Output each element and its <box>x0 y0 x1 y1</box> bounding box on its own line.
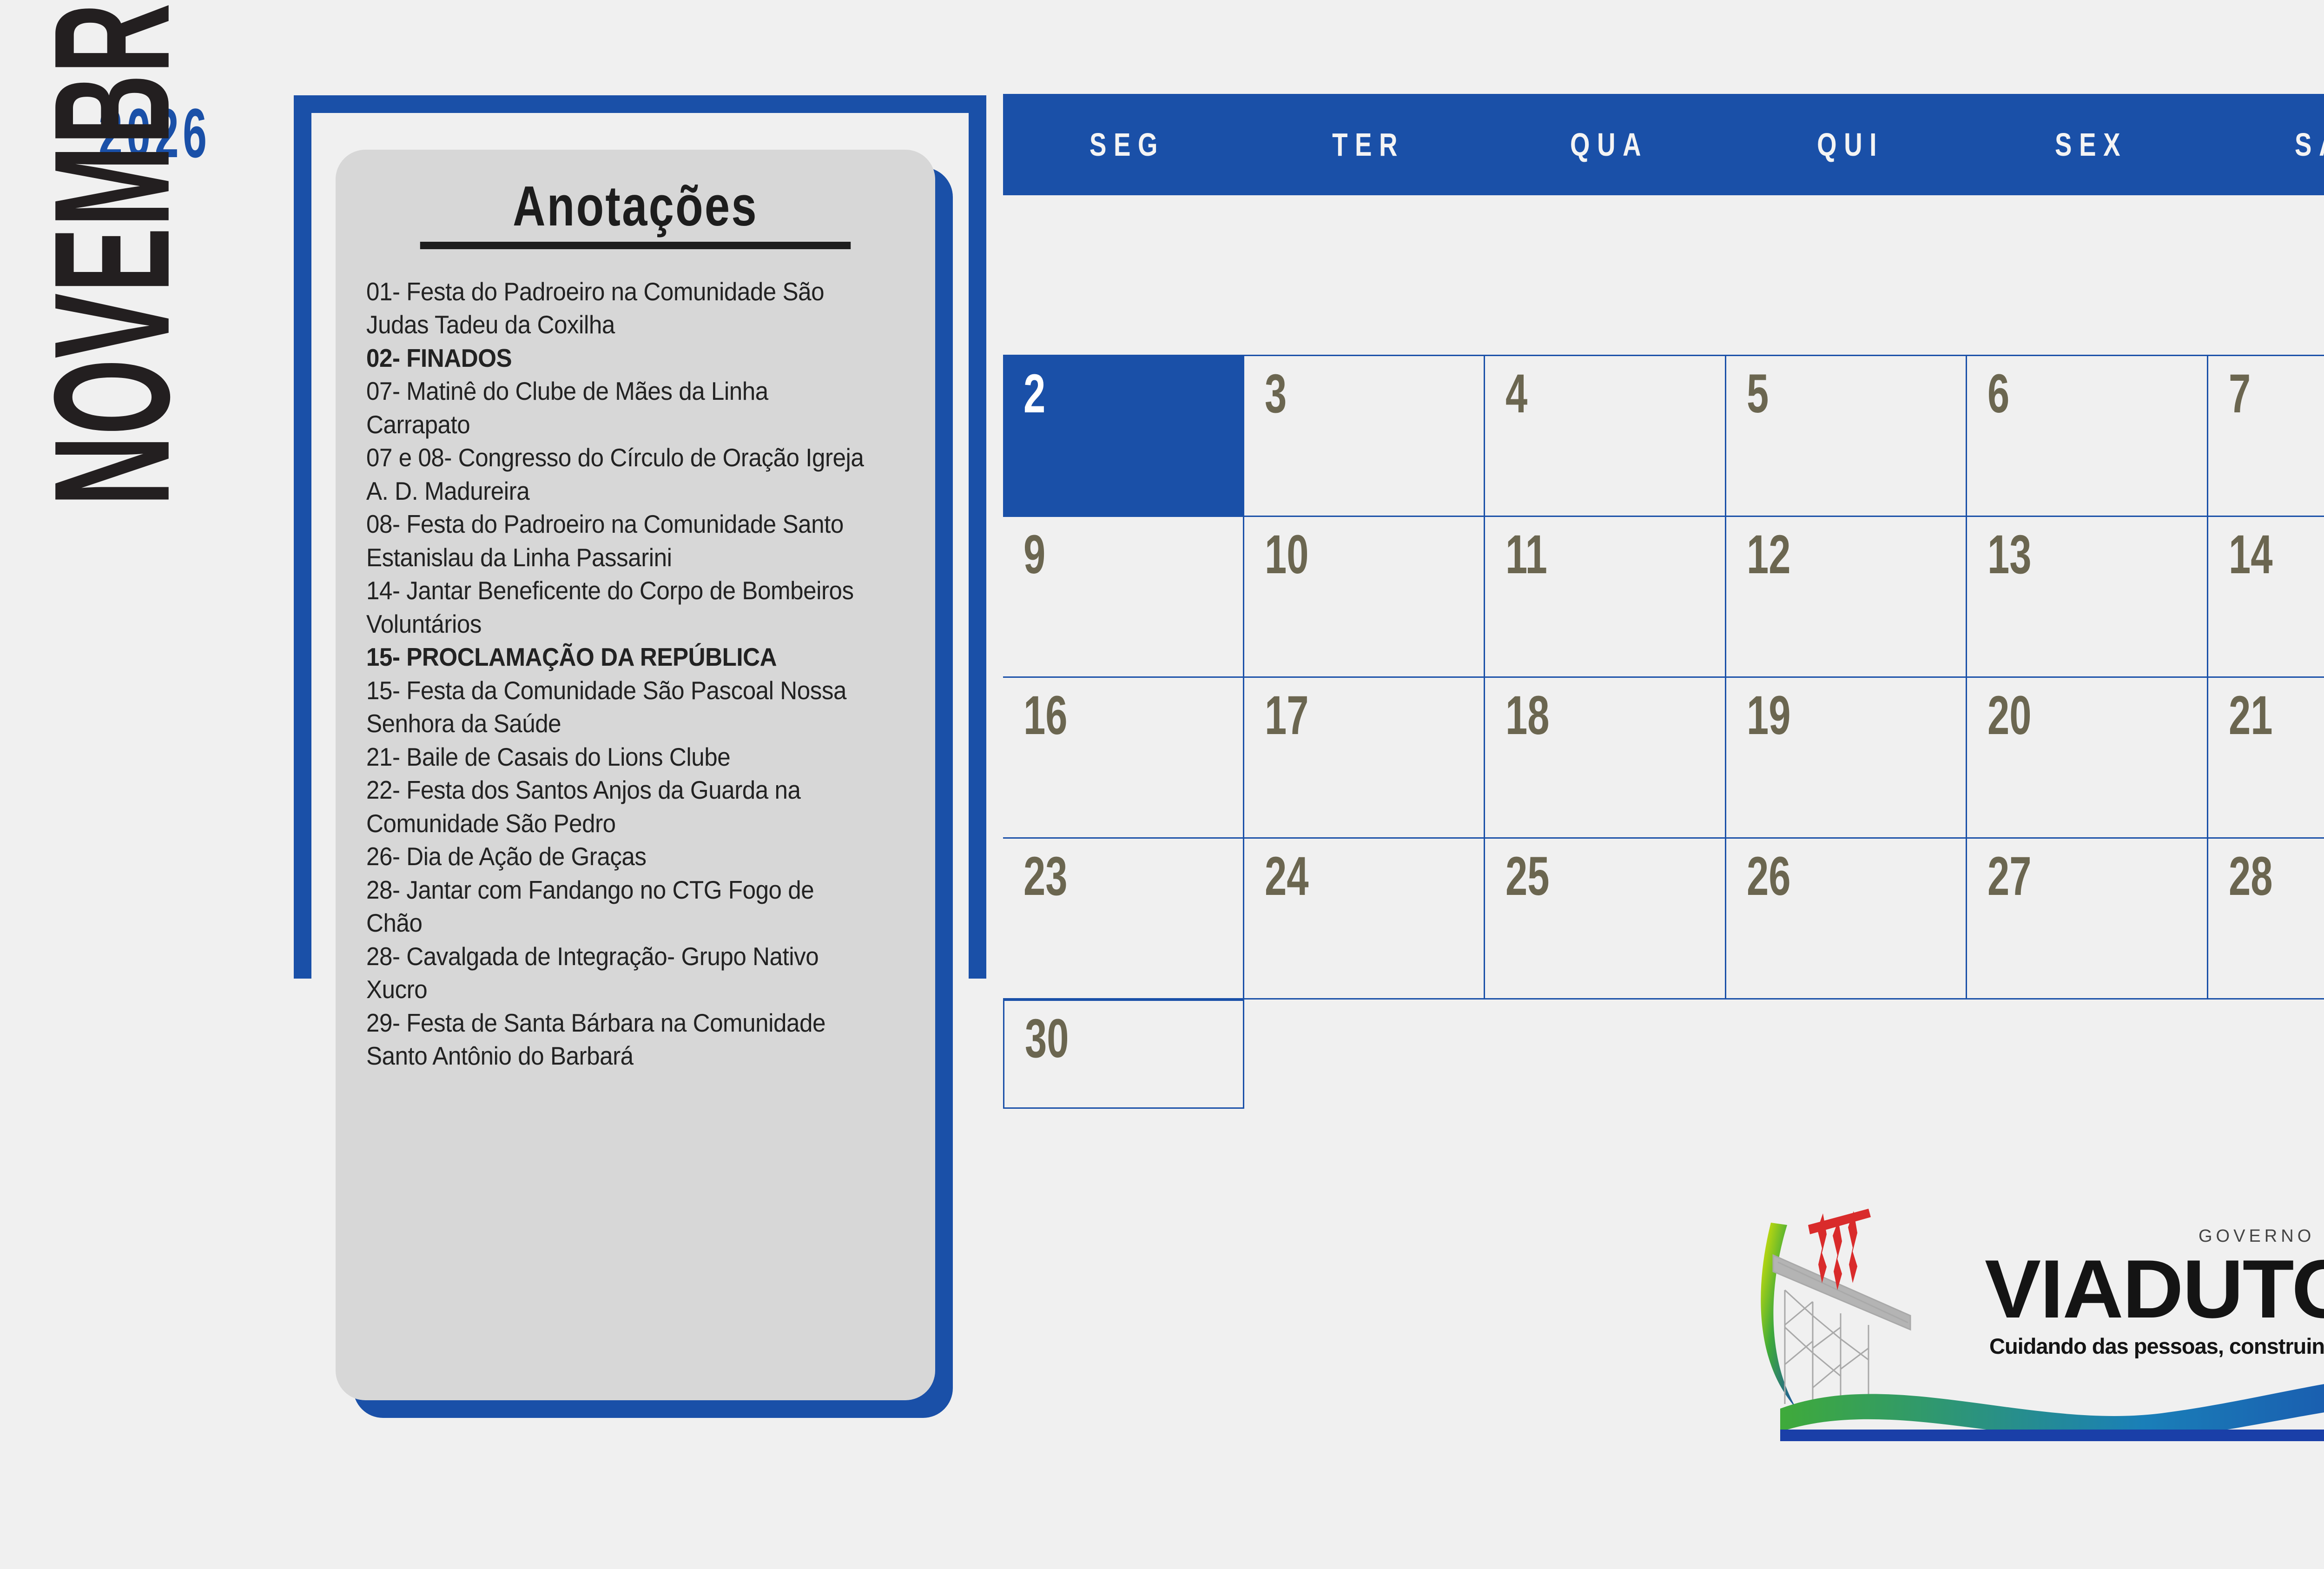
day-cell[interactable]: 25 <box>1485 839 1726 1000</box>
weekday-qui: QUI <box>1753 94 1941 195</box>
note-item: 02- FINADOS <box>366 342 867 375</box>
notes-list: 01- Festa do Padroeiro na Comunidade São… <box>366 275 905 1073</box>
note-item: 14- Jantar Beneficente do Corpo de Bombe… <box>366 574 867 641</box>
day-number: 18 <box>1505 688 1550 743</box>
notes-card: Anotações 01- Festa do Padroeiro na Comu… <box>336 150 935 1400</box>
day-cell[interactable]: 27 <box>1967 839 2208 1000</box>
weekday-sáb: SÁB <box>2235 94 2324 195</box>
month-name-text: NOVEMBRO <box>29 0 194 506</box>
note-item: 01- Festa do Padroeiro na Comunidade São… <box>366 275 867 342</box>
note-item: 07 e 08- Congresso do Círculo de Oração … <box>366 441 867 508</box>
day-cell[interactable]: 26 <box>1726 839 1967 1000</box>
day-cell[interactable]: 16 <box>1003 678 1244 839</box>
day-number: 19 <box>1747 688 1791 743</box>
month-name: NOVEMBRO <box>35 0 188 625</box>
day-cell[interactable]: 18 <box>1485 678 1726 839</box>
note-item: 15- Festa da Comunidade São Pascoal Noss… <box>366 674 867 741</box>
logo-wave-graphic <box>1752 1348 2324 1441</box>
day-cell[interactable]: 19 <box>1726 678 1967 839</box>
day-number: 20 <box>1987 688 2032 743</box>
day-number: 12 <box>1747 527 1791 582</box>
day-number: 6 <box>1987 366 2009 421</box>
day-cell[interactable]: 14 <box>2208 517 2324 678</box>
note-item: 28- Cavalgada de Integração- Grupo Nativ… <box>366 940 867 1006</box>
notes-frame-right-bar <box>969 95 986 979</box>
day-number: 25 <box>1505 849 1550 904</box>
day-number: 27 <box>1987 849 2032 904</box>
day-number: 28 <box>2229 849 2273 904</box>
day-cell[interactable]: 2 <box>1003 356 1244 517</box>
day-cell[interactable]: 13 <box>1967 517 2208 678</box>
weekday-sex: SEX <box>1994 94 2181 195</box>
note-item: 22- Festa dos Santos Anjos da Guarda na … <box>366 774 867 840</box>
day-number: 16 <box>1023 688 1068 743</box>
day-cell[interactable]: 24 <box>1244 839 1486 1000</box>
day-number: 21 <box>2229 688 2273 743</box>
weekday-ter: TER <box>1271 94 1459 195</box>
weekday-seg: SEG <box>1030 94 1217 195</box>
day-cell[interactable]: 23 <box>1003 839 1244 1000</box>
day-cell-empty <box>1244 195 1486 356</box>
day-cell[interactable]: 5 <box>1726 356 1967 517</box>
day-cell-empty <box>1485 195 1726 356</box>
day-number: 7 <box>2229 366 2251 421</box>
note-item: 29- Festa de Santa Bárbara na Comunidade… <box>366 1006 867 1073</box>
day-number: 9 <box>1023 527 1045 582</box>
note-item: 28- Jantar com Fandango no CTG Fogo de C… <box>366 874 867 940</box>
calendar-grid: 1234567891011121314151617181920212223242… <box>1003 195 2324 1000</box>
day-cell[interactable]: 3 <box>1244 356 1486 517</box>
day-number: 17 <box>1265 688 1309 743</box>
day-cell[interactable]: 20 <box>1967 678 2208 839</box>
day-number: 26 <box>1747 849 1791 904</box>
day-number: 2 <box>1023 366 1045 421</box>
note-item: 15- PROCLAMAÇÃO DA REPÚBLICA <box>366 641 867 674</box>
day-cell[interactable]: 28 <box>2208 839 2324 1000</box>
logo-city-name: VIADUTOS <box>1985 1241 2324 1337</box>
day-cell[interactable]: 7 <box>2208 356 2324 517</box>
day-cell[interactable]: 17 <box>1244 678 1486 839</box>
day-cell[interactable]: 6 <box>1967 356 2208 517</box>
day-cell[interactable]: 12 <box>1726 517 1967 678</box>
day-cell-empty <box>1003 195 1244 356</box>
day-cell-empty <box>2208 195 2324 356</box>
weekday-qua: QUA <box>1512 94 1699 195</box>
day-cell-trailing[interactable]: 30 <box>1003 1000 1244 1109</box>
day-cell[interactable]: 21 <box>2208 678 2324 839</box>
day-cell[interactable]: 9 <box>1003 517 1244 678</box>
day-number: 10 <box>1265 527 1309 582</box>
note-item: 21- Baile de Casais do Lions Clube <box>366 741 867 774</box>
day-number: 3 <box>1265 366 1287 421</box>
day-number: 11 <box>1505 527 1547 582</box>
note-item: 08- Festa do Padroeiro na Comunidade San… <box>366 508 867 574</box>
viadutos-logo: GOVERNO MUNICIPAL DE VIADUTOS Cuidando d… <box>1752 1209 2324 1427</box>
day-cell[interactable]: 4 <box>1485 356 1726 517</box>
day-number: 4 <box>1505 366 1527 421</box>
month-spine: 2026 NOVEMBRO <box>0 0 297 986</box>
weekday-header: SEGTERQUAQUISEXSÁBDOM <box>1003 94 2324 195</box>
notes-title: Anotações <box>420 176 851 249</box>
day-cell[interactable]: 11 <box>1485 517 1726 678</box>
note-item: 26- Dia de Ação de Graças <box>366 840 867 874</box>
day-number: 14 <box>2229 527 2273 582</box>
day-cell-empty <box>1726 195 1967 356</box>
day-number: 24 <box>1265 849 1309 904</box>
day-number: 30 <box>1025 1011 1069 1066</box>
day-number: 13 <box>1987 527 2032 582</box>
day-cell[interactable]: 10 <box>1244 517 1486 678</box>
note-item: 07- Matinê do Clube de Mães da Linha Car… <box>366 375 867 441</box>
day-number: 23 <box>1023 849 1068 904</box>
day-cell-empty <box>1967 195 2208 356</box>
day-number: 5 <box>1747 366 1769 421</box>
